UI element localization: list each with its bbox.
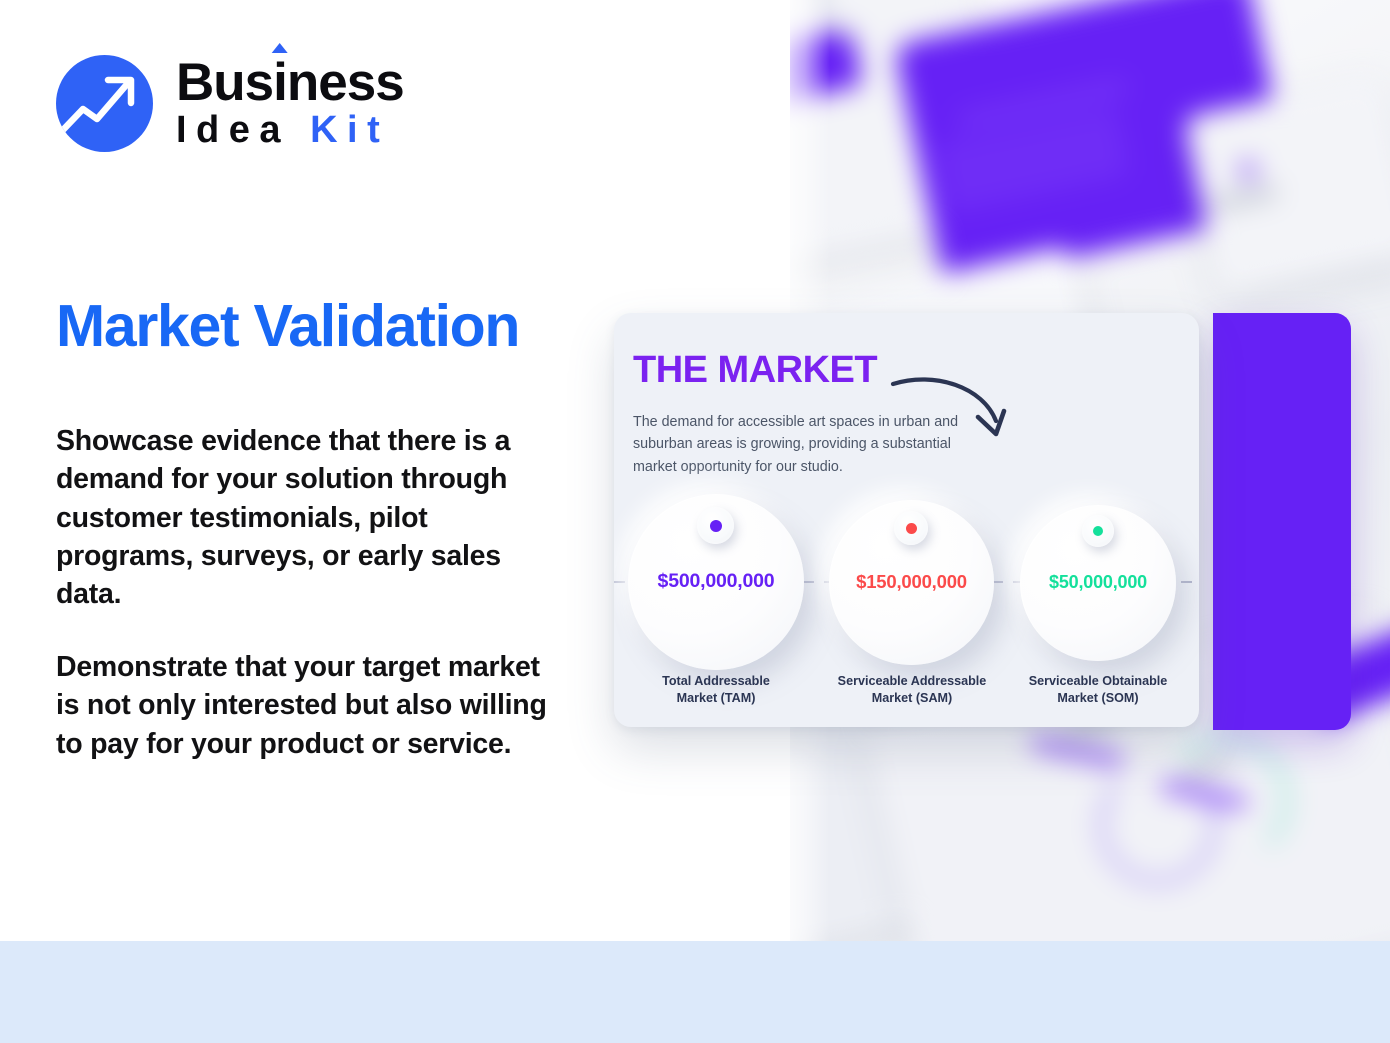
kpi-label: Total Addressable Market (TAM) <box>618 673 814 706</box>
sam-indicator-dot <box>906 523 917 534</box>
kpi-label-line1: Serviceable Obtainable <box>1029 674 1168 688</box>
brand-wordmark: Business Idea Kit <box>176 56 404 151</box>
market-card: THE MARKET The demand for accessible art… <box>614 313 1199 727</box>
growth-arrow-icon <box>56 55 153 152</box>
kpi-knob <box>894 511 928 545</box>
tam-indicator-dot <box>710 520 722 532</box>
kpi-label: Serviceable Obtainable Market (SOM) <box>999 673 1197 706</box>
kpi-knob <box>1082 515 1114 547</box>
kpi-value: $500,000,000 <box>628 570 804 593</box>
body-paragraph-2: Demonstrate that your target market is n… <box>56 648 566 763</box>
kpi-value: $150,000,000 <box>829 571 994 593</box>
brand-name-idea: Idea <box>176 109 290 151</box>
kpi-label-line1: Serviceable Addressable <box>838 674 987 688</box>
background-dot <box>1238 160 1258 180</box>
page-title: Market Validation <box>56 296 696 358</box>
som-indicator-dot <box>1093 526 1103 536</box>
kpi-circle-group: $500,000,000 Total Addressable Market (T… <box>614 313 1199 727</box>
brand-name-pre: Bus <box>176 53 273 112</box>
kpi-value: $50,000,000 <box>1020 572 1176 593</box>
brand-caret-i: i <box>273 56 287 110</box>
kpi-label-line1: Total Addressable <box>662 674 770 688</box>
brand-name-line2: Idea Kit <box>176 111 404 151</box>
bottom-color-band <box>0 941 1390 1043</box>
brand-name-kit: Kit <box>310 109 389 151</box>
brand-logo[interactable]: Business Idea Kit <box>56 55 404 152</box>
body-paragraph-1: Showcase evidence that there is a demand… <box>56 422 566 614</box>
kpi-label-line2: Market (TAM) <box>677 691 756 705</box>
kpi-label-line2: Market (SOM) <box>1057 691 1138 705</box>
kpi-label-line2: Market (SAM) <box>872 691 952 705</box>
kpi-label: Serviceable Addressable Market (SAM) <box>811 673 1013 706</box>
kpi-knob <box>697 507 734 544</box>
slide-canvas: Business Idea Kit Market Validation Show… <box>0 0 1390 1043</box>
purple-accent-block <box>1213 313 1351 730</box>
brand-name-post: ness <box>287 53 404 112</box>
brand-name-line1: Business <box>176 56 404 110</box>
